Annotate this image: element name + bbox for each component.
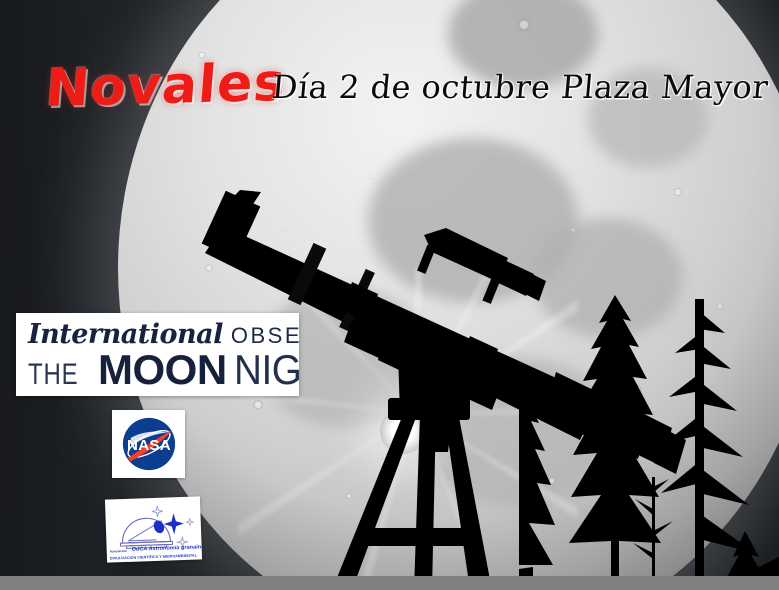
- iomn-logo-line-2: THE MOON NIGHT: [28, 349, 299, 392]
- nasa-meatball-icon: NASA: [120, 415, 178, 473]
- odca-logo: Asociación OdCA Astronomía granaína DIVU…: [105, 496, 202, 562]
- iomn-word-moon: MOON: [98, 349, 227, 391]
- poster-canvas: International OBSERVE THE MOON NIGHT NAS…: [0, 0, 779, 590]
- headline-row: Novales Día 2 de octubre Plaza Mayor: [0, 58, 779, 120]
- iomn-logo: International OBSERVE THE MOON NIGHT: [16, 313, 299, 396]
- bottom-bar: [0, 576, 779, 590]
- nasa-wordmark: NASA: [127, 437, 171, 454]
- iomn-word-night: NIGHT: [234, 349, 299, 391]
- nasa-logo: NASA: [112, 410, 185, 478]
- place-title: Novales: [43, 53, 288, 119]
- event-title: Día 2 de octubre Plaza Mayor: [270, 68, 770, 106]
- iomn-word-the: THE: [28, 358, 78, 392]
